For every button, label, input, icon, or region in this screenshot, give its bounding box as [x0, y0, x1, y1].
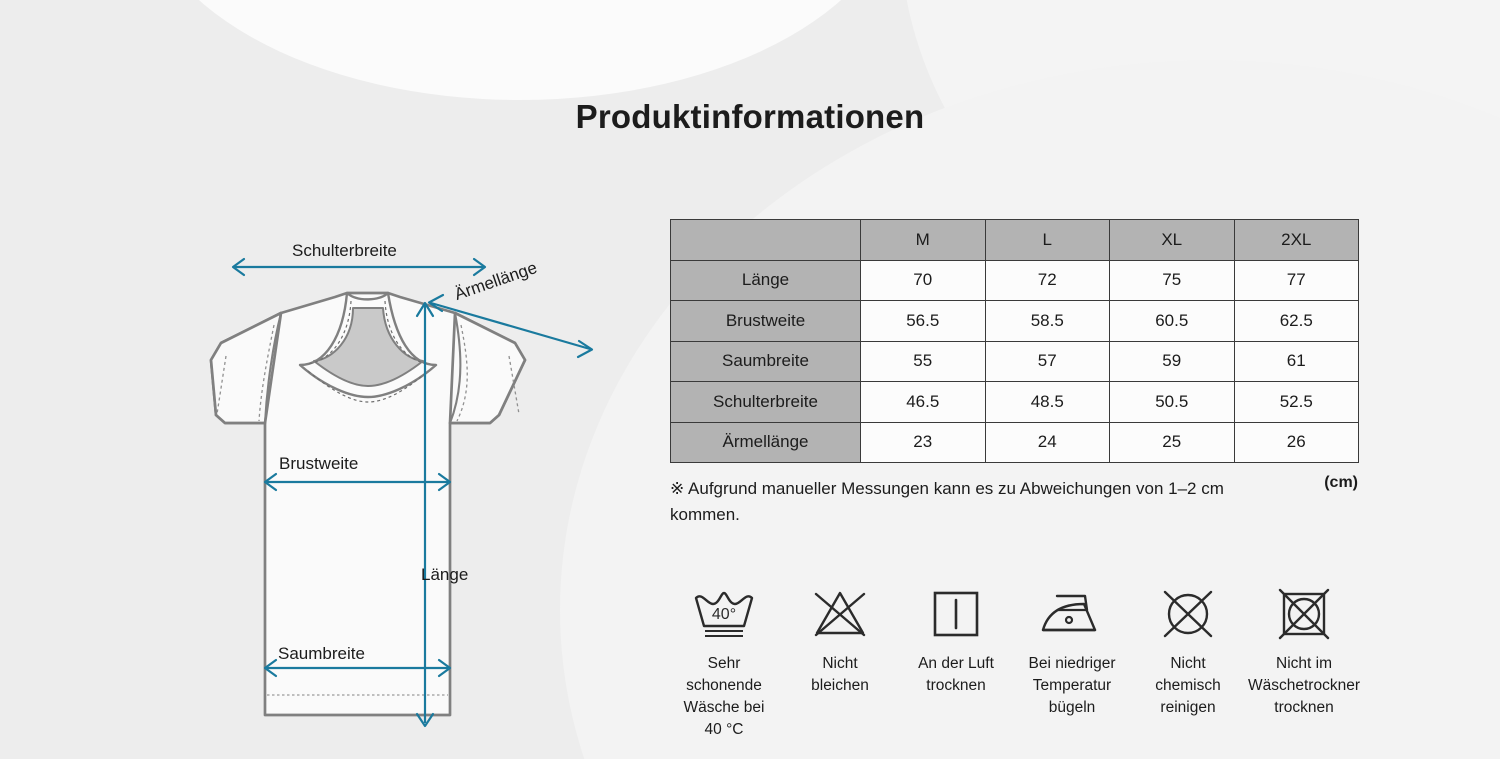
- care-item-line-dry: An der Luft trocknen: [900, 585, 1012, 697]
- table-cell: 56.5: [861, 301, 986, 342]
- care-label: Nicht chemisch reinigen: [1155, 653, 1220, 719]
- dimension-label-chest: Brustweite: [279, 454, 358, 474]
- table-cell: 60.5: [1110, 301, 1235, 342]
- unit-label: (cm): [1280, 474, 1358, 492]
- table-cell: 72: [985, 260, 1110, 301]
- iron-low-temperature-icon: [1038, 585, 1106, 643]
- table-row: Saumbreite 55 57 59 61: [671, 341, 1359, 382]
- table-cell: 48.5: [985, 382, 1110, 423]
- size-chart-table: M L XL 2XL Länge 70 72 75 77 Brustweite …: [670, 219, 1359, 463]
- table-cell: 55: [861, 341, 986, 382]
- table-cell: 77: [1234, 260, 1359, 301]
- table-cell: 57: [985, 341, 1110, 382]
- care-item-dry-clean: Nicht chemisch reinigen: [1132, 585, 1244, 719]
- product-info-infographic: Produktinformationen: [0, 0, 1500, 759]
- table-cell: 75: [1110, 260, 1235, 301]
- table-cell: 23: [861, 422, 986, 463]
- table-row-header: Brustweite: [671, 301, 861, 342]
- table-cell: 25: [1110, 422, 1235, 463]
- table-row-header: Länge: [671, 260, 861, 301]
- table-cell: 70: [861, 260, 986, 301]
- care-label: Sehr schonende Wäsche bei 40 °C: [684, 653, 765, 741]
- dimension-label-length: Länge: [421, 565, 468, 585]
- svg-text:40°: 40°: [712, 606, 736, 623]
- care-item-iron: Bei niedriger Temperatur bügeln: [1016, 585, 1128, 719]
- table-row-header: Ärmellänge: [671, 422, 861, 463]
- table-corner-cell: [671, 220, 861, 261]
- table-row: Schulterbreite 46.5 48.5 50.5 52.5: [671, 382, 1359, 423]
- table-col-header-xl: XL: [1110, 220, 1235, 261]
- do-not-tumble-dry-icon: [1274, 585, 1334, 643]
- care-label: Bei niedriger Temperatur bügeln: [1028, 653, 1115, 719]
- table-row-header: Saumbreite: [671, 341, 861, 382]
- care-label: Nicht bleichen: [811, 653, 869, 697]
- care-label: Nicht im Wäschetrockner trocknen: [1248, 653, 1360, 719]
- table-col-header-2xl: 2XL: [1234, 220, 1359, 261]
- table-cell: 58.5: [985, 301, 1110, 342]
- line-dry-icon: [928, 585, 984, 643]
- care-item-wash: 40° Sehr schonende Wäsche bei 40 °C: [668, 585, 780, 741]
- table-cell: 62.5: [1234, 301, 1359, 342]
- background-decor-arc: [140, 0, 900, 100]
- do-not-bleach-icon: [809, 585, 871, 643]
- table-cell: 52.5: [1234, 382, 1359, 423]
- table-col-header-m: M: [861, 220, 986, 261]
- table-cell: 24: [985, 422, 1110, 463]
- dimension-label-hem: Saumbreite: [278, 644, 365, 664]
- dimension-label-shoulder: Schulterbreite: [292, 241, 397, 261]
- table-cell: 59: [1110, 341, 1235, 382]
- table-cell: 46.5: [861, 382, 986, 423]
- table-header-row: M L XL 2XL: [671, 220, 1359, 261]
- measurement-disclaimer: ※ Aufgrund manueller Messungen kann es z…: [670, 476, 1280, 529]
- table-cell: 61: [1234, 341, 1359, 382]
- table-cell: 50.5: [1110, 382, 1235, 423]
- table-col-header-l: L: [985, 220, 1110, 261]
- do-not-dry-clean-icon: [1158, 585, 1218, 643]
- page-title: Produktinformationen: [0, 98, 1500, 136]
- table-row: Länge 70 72 75 77: [671, 260, 1359, 301]
- table-cell: 26: [1234, 422, 1359, 463]
- table-row: Ärmellänge 23 24 25 26: [671, 422, 1359, 463]
- care-label: An der Luft trocknen: [918, 653, 994, 697]
- table-row-header: Schulterbreite: [671, 382, 861, 423]
- table-row: Brustweite 56.5 58.5 60.5 62.5: [671, 301, 1359, 342]
- wash-40-very-gentle-icon: 40°: [691, 585, 757, 643]
- care-instructions-row: 40° Sehr schonende Wäsche bei 40 °C Nich…: [668, 585, 1360, 741]
- care-item-bleach: Nicht bleichen: [784, 585, 896, 697]
- t-shirt-diagram: [95, 225, 640, 750]
- care-item-tumble-dry: Nicht im Wäschetrockner trocknen: [1248, 585, 1360, 719]
